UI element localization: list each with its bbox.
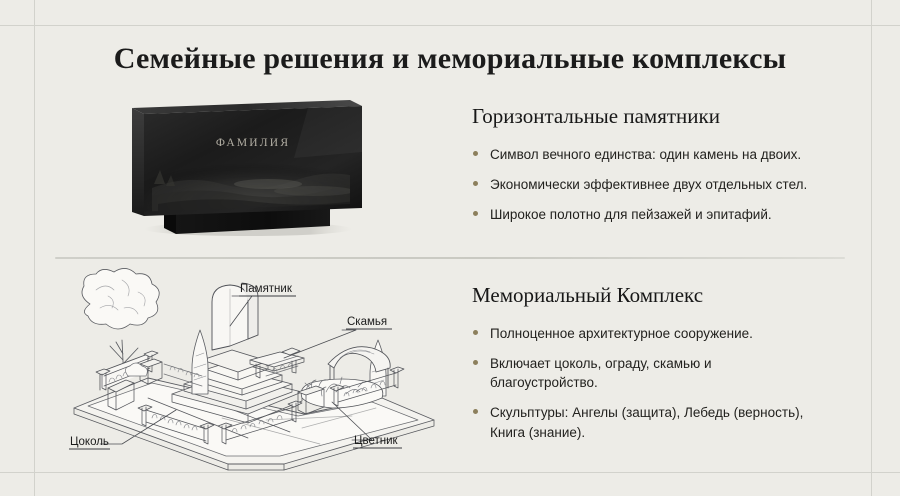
list-item-text: Символ вечного единства: один камень на … — [490, 147, 801, 162]
list-item: Включает цоколь, ограду, скамью и благоу… — [472, 354, 772, 392]
horizontal-monument-photo: ФАМИЛИЯ — [118, 92, 378, 242]
list-item-text: Включает цоколь, ограду, скамью и благоу… — [490, 356, 712, 390]
bullet-dot-icon — [473, 181, 478, 186]
bullet-dot-icon — [473, 409, 478, 414]
section-horizontal-monuments: Горизонтальные памятники Символ вечного … — [472, 104, 872, 235]
list-item-text: Скульптуры: Ангелы (защита), Лебедь (вер… — [490, 405, 803, 439]
svg-text:Скамья: Скамья — [347, 316, 387, 328]
diagram-conifer-left — [192, 330, 208, 394]
section-memorial-complex: Мемориальный Комплекс Полноценное архите… — [472, 283, 872, 453]
list-item-text: Широкое полотно для пейзажей и эпитафий. — [490, 207, 772, 222]
engraved-surname: ФАМИЛИЯ — [216, 137, 290, 149]
bullet-dot-icon — [473, 211, 478, 216]
list-item: Экономически эффективнее двух отдельных … — [472, 175, 844, 194]
section-1-heading: Горизонтальные памятники — [472, 104, 872, 129]
page-title: Семейные решения и мемориальные комплекс… — [0, 42, 900, 76]
svg-text:Памятник: Памятник — [240, 283, 293, 295]
page-grid-line-top — [0, 25, 900, 26]
section-1-bullet-list: Символ вечного единства: один камень на … — [472, 145, 872, 224]
svg-text:Цветник: Цветник — [354, 435, 399, 447]
memorial-complex-diagram: Памятник Скамья Цоколь Цветник — [52, 268, 452, 473]
section-divider — [55, 257, 845, 259]
list-item: Скульптуры: Ангелы (защита), Лебедь (вер… — [472, 403, 828, 441]
list-item-text: Экономически эффективнее двух отдельных … — [490, 177, 807, 192]
diagram-label-flower-bed: Цветник — [353, 435, 402, 448]
diagram-label-plinth: Цоколь — [69, 436, 110, 449]
list-item: Полноценное архитектурное сооружение. — [472, 324, 844, 343]
list-item: Символ вечного единства: один камень на … — [472, 145, 844, 164]
diagram-label-monument: Памятник — [239, 283, 296, 296]
bullet-dot-icon — [473, 360, 478, 365]
diagram-label-bench: Скамья — [346, 316, 392, 329]
diagram-stele — [202, 283, 268, 380]
section-2-heading: Мемориальный Комплекс — [472, 283, 872, 308]
list-item-text: Полноценное архитектурное сооружение. — [490, 326, 753, 341]
monument-slab-side — [132, 108, 144, 216]
section-2-bullet-list: Полноценное архитектурное сооружение. Вк… — [472, 324, 872, 442]
bullet-dot-icon — [473, 330, 478, 335]
list-item: Широкое полотно для пейзажей и эпитафий. — [472, 205, 844, 224]
bullet-dot-icon — [473, 151, 478, 156]
svg-text:Цоколь: Цоколь — [70, 436, 109, 448]
